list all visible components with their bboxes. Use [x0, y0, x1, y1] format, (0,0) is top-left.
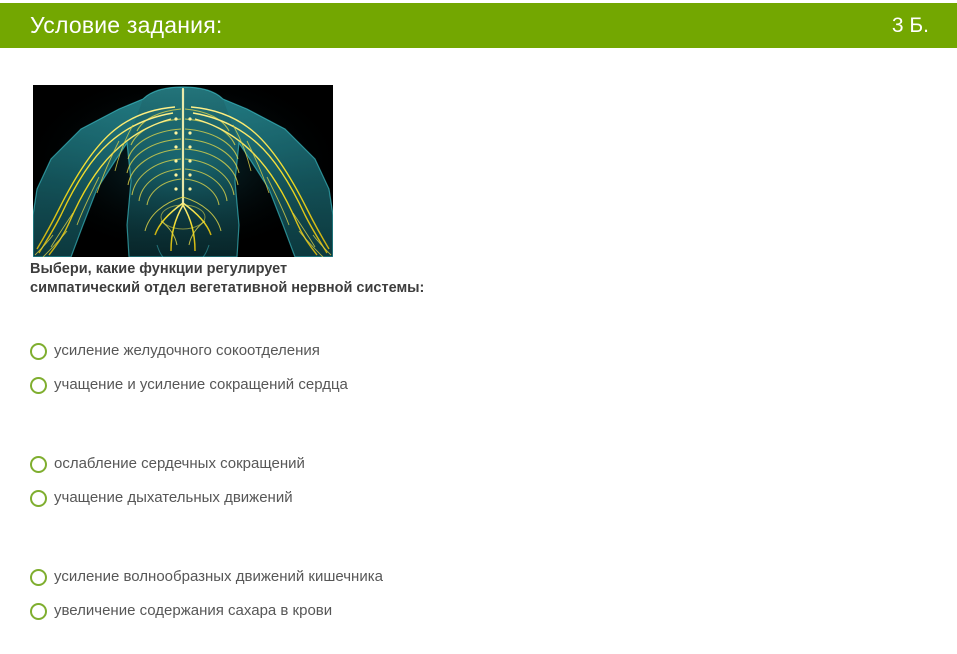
radio-button-icon[interactable] [30, 456, 47, 473]
answer-options-list: усиление желудочного сокоотделения учаще… [30, 334, 730, 628]
answer-group-3: усиление волнообразных движений кишечник… [30, 560, 730, 628]
question-text: Выбери, какие функции регулирует симпати… [30, 260, 730, 298]
answer-option-1[interactable]: усиление желудочного сокоотделения [30, 334, 730, 368]
answer-option-label: усиление желудочного сокоотделения [54, 342, 320, 360]
radio-button-icon[interactable] [30, 603, 47, 620]
radio-button-icon[interactable] [30, 569, 47, 586]
task-page: Условие задания: 3 Б. [0, 0, 957, 654]
radio-button-icon[interactable] [30, 343, 47, 360]
page-title: Условие задания: [30, 14, 222, 37]
score-badge: 3 Б. [892, 15, 929, 36]
answer-option-label: учащение и усиление сокращений сердца [54, 376, 348, 394]
question-line-1: Выбери, какие функции регулирует [30, 260, 730, 279]
answer-option-3[interactable]: ослабление сердечных сокращений [30, 447, 730, 481]
answer-option-6[interactable]: увеличение содержания сахара в крови [30, 594, 730, 628]
task-header-bar: Условие задания: 3 Б. [0, 3, 957, 48]
answer-option-label: усиление волнообразных движений кишечник… [54, 568, 383, 586]
answer-option-2[interactable]: учащение и усиление сокращений сердца [30, 368, 730, 402]
answer-option-label: учащение дыхательных движений [54, 489, 293, 507]
answer-option-label: ослабление сердечных сокращений [54, 455, 305, 473]
answer-option-label: увеличение содержания сахара в крови [54, 602, 332, 620]
answer-option-4[interactable]: учащение дыхательных движений [30, 481, 730, 515]
answer-group-2: ослабление сердечных сокращений учащение… [30, 447, 730, 515]
nervous-system-svg [33, 85, 333, 257]
radio-button-icon[interactable] [30, 490, 47, 507]
answer-option-5[interactable]: усиление волнообразных движений кишечник… [30, 560, 730, 594]
radio-button-icon[interactable] [30, 377, 47, 394]
answer-group-1: усиление желудочного сокоотделения учаще… [30, 334, 730, 402]
nervous-system-image [33, 85, 333, 257]
question-line-2: симпатический отдел вегетативной нервной… [30, 279, 730, 298]
